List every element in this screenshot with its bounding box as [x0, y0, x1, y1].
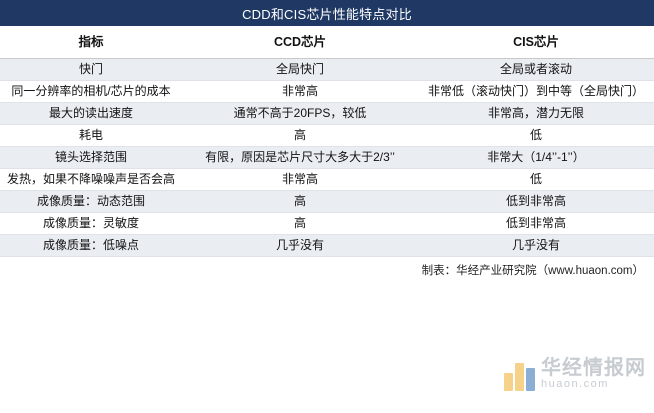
column-header-metric: 指标	[0, 26, 182, 59]
cell-ccd: 高	[182, 125, 418, 147]
cell-cis: 低到非常高	[418, 191, 654, 213]
figure-title-bar: CDD和CIS芯片性能特点对比	[0, 0, 654, 26]
cell-cis: 几乎没有	[418, 235, 654, 257]
table-row: 成像质量：灵敏度 高 低到非常高	[0, 213, 654, 235]
page-title: CDD和CIS芯片性能特点对比	[242, 4, 412, 23]
table-row: 成像质量：低噪点 几乎没有 几乎没有	[0, 235, 654, 257]
cell-metric: 发热，如果不降噪噪声是否会高	[0, 169, 182, 191]
cell-metric: 快门	[0, 59, 182, 81]
header-row: 指标 CCD芯片 CIS芯片	[0, 26, 654, 59]
column-header-ccd: CCD芯片	[182, 26, 418, 59]
cell-cis: 低到非常高	[418, 213, 654, 235]
cell-ccd: 通常不高于20FPS，较低	[182, 103, 418, 125]
cell-metric: 成像质量：低噪点	[0, 235, 182, 257]
source-note: 制表：华经产业研究院（www.huaon.com）	[422, 262, 644, 278]
comparison-table: 指标 CCD芯片 CIS芯片 快门 全局快门 全局或者滚动 同一分辨率的相机/芯…	[0, 26, 654, 257]
cell-metric: 成像质量：灵敏度	[0, 213, 182, 235]
cell-metric: 镜头选择范围	[0, 147, 182, 169]
cell-cis: 非常大（1/4’’-1’’）	[418, 147, 654, 169]
table-body: 快门 全局快门 全局或者滚动 同一分辨率的相机/芯片的成本 非常高 非常低（滚动…	[0, 59, 654, 257]
cell-ccd: 非常高	[182, 169, 418, 191]
table-row: 最大的读出速度 通常不高于20FPS，较低 非常高，潜力无限	[0, 103, 654, 125]
cell-metric: 耗电	[0, 125, 182, 147]
cell-cis: 低	[418, 169, 654, 191]
table-row: 耗电 高 低	[0, 125, 654, 147]
table-header: 指标 CCD芯片 CIS芯片	[0, 26, 654, 59]
cell-cis: 低	[418, 125, 654, 147]
cell-ccd: 高	[182, 213, 418, 235]
cell-ccd: 几乎没有	[182, 235, 418, 257]
cell-cis: 非常高，潜力无限	[418, 103, 654, 125]
table-row: 快门 全局快门 全局或者滚动	[0, 59, 654, 81]
table-row: 发热，如果不降噪噪声是否会高 非常高 低	[0, 169, 654, 191]
figure-footer: 制表：华经产业研究院（www.huaon.com）	[0, 257, 654, 283]
cell-cis: 全局或者滚动	[418, 59, 654, 81]
cell-ccd: 高	[182, 191, 418, 213]
watermark-en: huaon.com	[541, 379, 646, 391]
table-row: 成像质量：动态范围 高 低到非常高	[0, 191, 654, 213]
cell-metric: 成像质量：动态范围	[0, 191, 182, 213]
cell-ccd: 非常高	[182, 81, 418, 103]
cell-metric: 最大的读出速度	[0, 103, 182, 125]
cell-ccd: 全局快门	[182, 59, 418, 81]
cell-cis: 非常低（滚动快门）到中等（全局快门）	[418, 81, 654, 103]
table-figure: CDD和CIS芯片性能特点对比 指标 CCD芯片 CIS芯片 快门 全局快门 全…	[0, 0, 654, 413]
table-row: 镜头选择范围 有限，原因是芯片尺寸大多大于2/3’’ 非常大（1/4’’-1’’…	[0, 147, 654, 169]
column-header-cis: CIS芯片	[418, 26, 654, 59]
watermark: 华经情报网 huaon.com	[503, 357, 646, 391]
watermark-text: 华经情报网 huaon.com	[541, 358, 646, 391]
cell-metric: 同一分辨率的相机/芯片的成本	[0, 81, 182, 103]
huaon-logo-icon	[503, 357, 537, 391]
cell-ccd: 有限，原因是芯片尺寸大多大于2/3’’	[182, 147, 418, 169]
watermark-cn: 华经情报网	[541, 358, 646, 379]
table-row: 同一分辨率的相机/芯片的成本 非常高 非常低（滚动快门）到中等（全局快门）	[0, 81, 654, 103]
